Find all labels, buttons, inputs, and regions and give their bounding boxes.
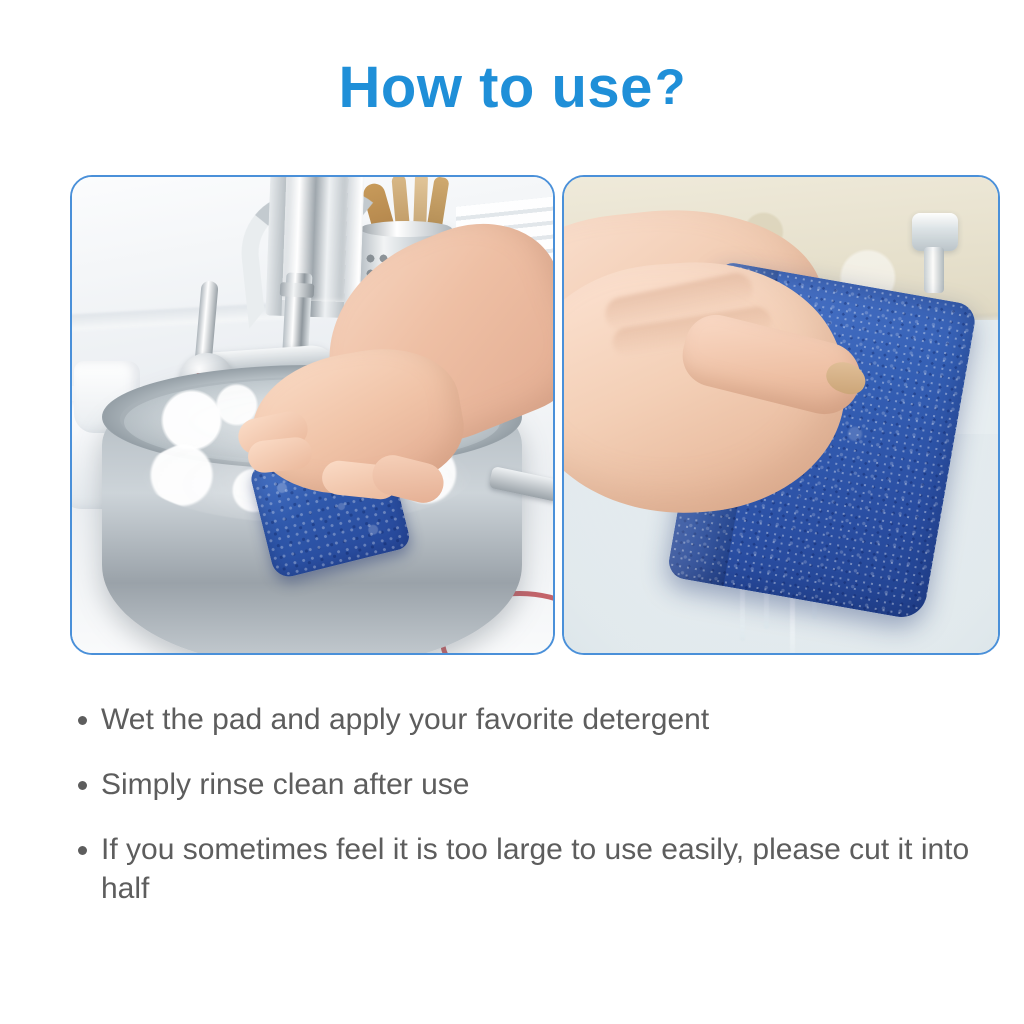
bullet-icon bbox=[78, 846, 87, 855]
faucet-stem bbox=[924, 247, 944, 293]
panel-rinse-pad bbox=[562, 175, 1000, 655]
panel-wash-pot bbox=[70, 175, 555, 655]
photo-wash-pot bbox=[72, 177, 553, 653]
infographic-page: How to use? bbox=[0, 0, 1024, 1024]
instructions-list: Wet the pad and apply your favorite dete… bbox=[72, 700, 1002, 934]
bullet-icon bbox=[78, 716, 87, 725]
list-item: Simply rinse clean after use bbox=[72, 765, 1002, 804]
faucet-head bbox=[912, 213, 958, 251]
instruction-text: Wet the pad and apply your favorite dete… bbox=[101, 700, 1002, 739]
instruction-text: Simply rinse clean after use bbox=[101, 765, 1002, 804]
page-title-text: How to use bbox=[339, 55, 653, 120]
instruction-text: If you sometimes feel it is too large to… bbox=[101, 830, 1001, 908]
page-title: How to use? bbox=[0, 54, 1024, 121]
photo-rinse-pad bbox=[564, 177, 998, 653]
list-item: If you sometimes feel it is too large to… bbox=[72, 830, 1002, 908]
page-title-question-mark: ? bbox=[655, 59, 686, 115]
bullet-icon bbox=[78, 781, 87, 790]
faucet-ring bbox=[280, 282, 315, 298]
photo-panels bbox=[70, 175, 1000, 655]
list-item: Wet the pad and apply your favorite dete… bbox=[72, 700, 1002, 739]
